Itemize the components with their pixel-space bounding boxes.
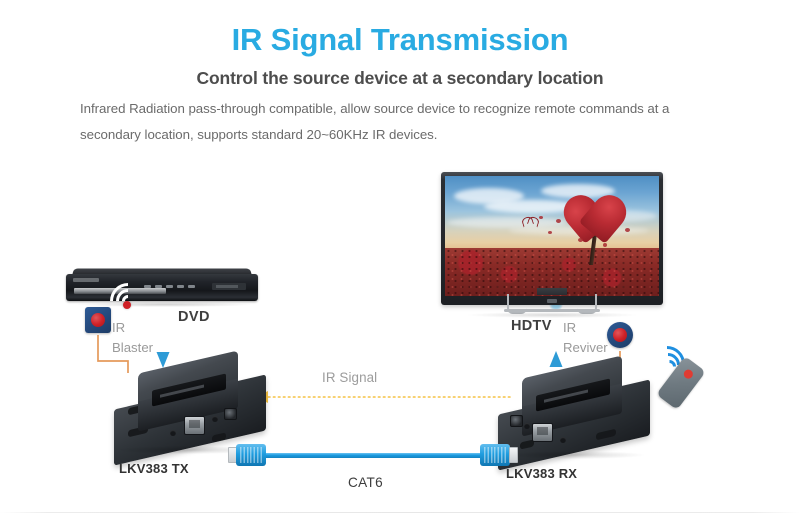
cat6-wire [262,453,486,458]
ir-receiver-label-line1: IR [563,318,613,338]
ir-signal-transmission-slide: IR Signal Transmission Control the sourc… [0,0,800,530]
tv-stand-base [491,294,613,312]
hdtv-label: HDTV [511,318,552,334]
ir-blaster-label-line2: Blaster [112,338,168,358]
ir-remote-control [636,333,740,413]
ir-blaster-label-line1: IR [112,318,168,338]
lkv383-tx-label: LKV383 TX [119,461,189,476]
ir-receiver-label-line2: Reviver [563,338,613,358]
rx-shadow [504,451,644,459]
cat6-cable [228,439,518,473]
page-subtitle: Control the source device at a secondary… [0,68,800,89]
tv-screen [445,176,659,296]
cat6-label: CAT6 [348,475,383,490]
section-divider [0,512,800,513]
ir-led-dot-icon [123,301,131,309]
dvd-label: DVD [178,309,210,325]
connection-diagram: IR Signal DVD IR Blaster [0,155,800,515]
dvd-brand-mark [73,278,99,282]
cat6-plug-right [480,444,518,466]
cat6-plug-left [228,444,266,466]
ir-receiver-label: IR Reviver [563,318,613,358]
page-title: IR Signal Transmission [0,22,800,58]
ir-blaster-label: IR Blaster [112,318,168,358]
ir-signal-label: IR Signal [322,370,377,385]
dvd-front-panel [66,274,258,301]
dvd-player [66,267,258,304]
dvd-button-row [144,285,196,289]
dvd-display-panel [212,283,246,290]
hdtv [441,172,663,305]
remote-power-button-icon [682,368,695,381]
ir-blaster-module-icon [85,307,111,333]
lkv383-rx-device [498,365,650,463]
description-paragraph: Infrared Radiation pass-through compatib… [80,96,712,148]
screen-heart-tree [565,192,627,248]
ir-emission-waves-icon [104,279,144,309]
screen-bird-icon [522,217,538,225]
rx-ir-port [510,415,523,427]
tx-rj45-port [184,416,205,435]
tx-ir-port [224,408,237,420]
rx-rj45-port [532,423,553,442]
